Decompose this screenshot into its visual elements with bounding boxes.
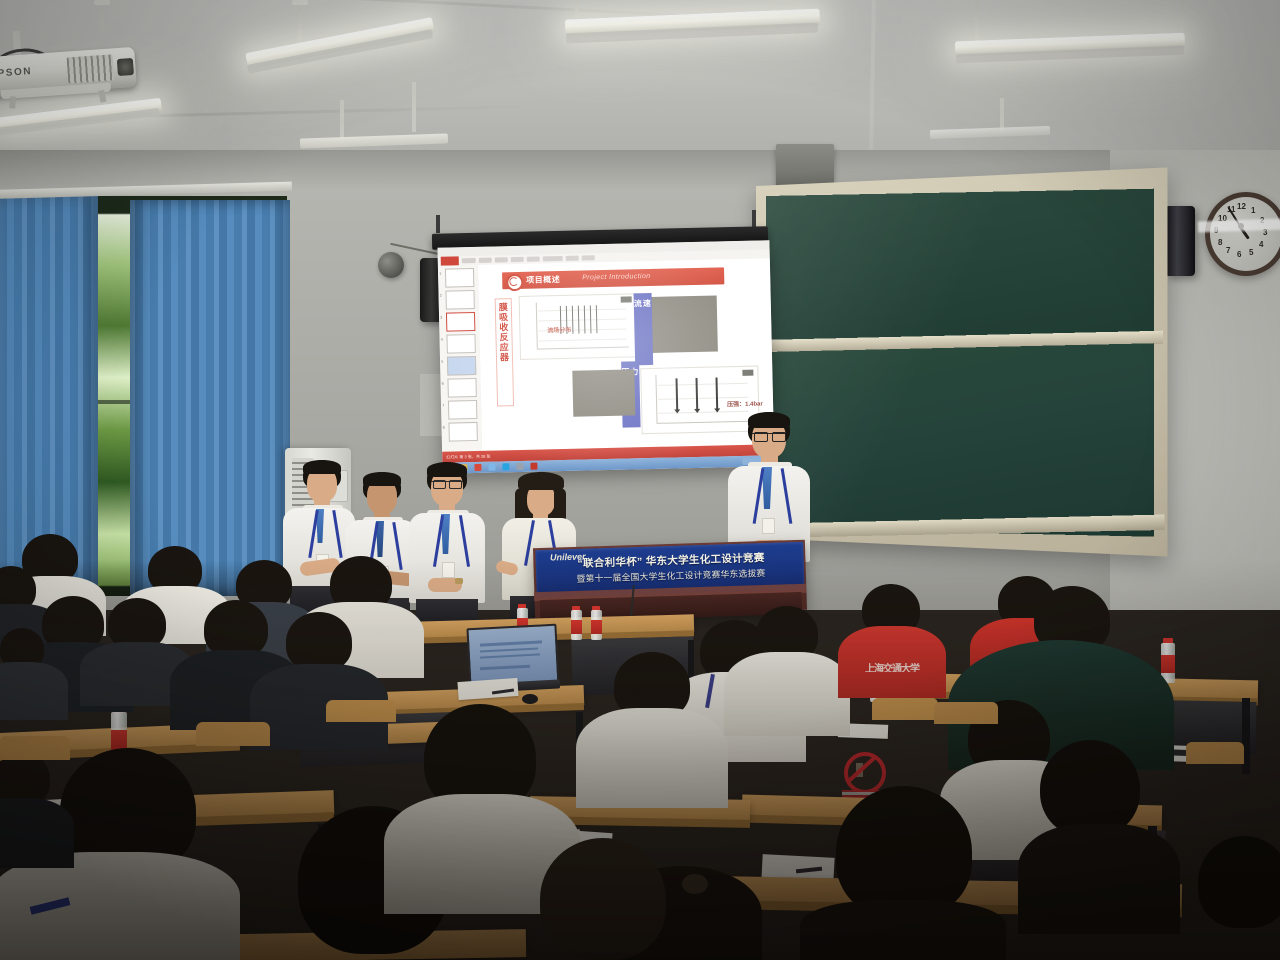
chair-back xyxy=(872,698,938,720)
clock-numeral: 1 xyxy=(1251,206,1255,215)
thumbnail-number: 4 xyxy=(440,337,442,342)
wall-sensor-icon xyxy=(378,252,404,278)
skype-icon[interactable] xyxy=(502,463,509,470)
chair-back xyxy=(934,702,998,724)
ppt-tab-file[interactable] xyxy=(441,256,459,265)
hair-clip xyxy=(682,874,708,894)
slide-chart-caption-2: 压强：1.4bar xyxy=(727,398,763,408)
thumbnail-number: 6 xyxy=(441,381,443,386)
thumbnail-number: 2 xyxy=(439,293,441,298)
light-rod xyxy=(412,82,416,132)
window-mullion xyxy=(96,400,132,404)
curtain-right[interactable] xyxy=(130,200,290,596)
blackboard-sheen xyxy=(766,179,1154,553)
thumbnail-number: 5 xyxy=(441,359,443,364)
ppt-tab-insert[interactable] xyxy=(479,258,492,263)
ppt-tab-design[interactable] xyxy=(495,257,508,262)
thumbnail-number: 7 xyxy=(442,403,444,408)
slide-thumbnail[interactable] xyxy=(445,268,474,288)
slide-thumbnail[interactable] xyxy=(448,400,477,420)
slide-image-block-1 xyxy=(651,295,718,352)
projector-foot xyxy=(9,96,16,108)
thumbnail-number: 8 xyxy=(442,425,444,430)
slide-thumbnail[interactable] xyxy=(445,290,474,310)
slide-vertical-label-reactor: 膜吸收反应器 xyxy=(495,298,514,406)
ceiling-projector: EPSON xyxy=(0,47,138,109)
chart-legend-tag xyxy=(621,296,632,302)
chair-back xyxy=(196,722,270,746)
projection-screen: 1 2 3 4 5 6 7 8 项目概述 Project Introductio… xyxy=(437,240,774,473)
wall-speaker-right xyxy=(1165,206,1195,276)
slide-chart-flowfield xyxy=(519,293,638,360)
chair-back xyxy=(0,736,70,760)
ppt-status-text: 幻灯片 第 3 张，共 28 张 xyxy=(446,454,490,461)
slide-thumbnail[interactable] xyxy=(448,422,477,442)
light-rod-cap xyxy=(94,0,110,5)
clock-numeral: 4 xyxy=(1259,240,1263,249)
projector-lens-icon xyxy=(117,58,134,76)
chair-back xyxy=(326,700,396,722)
slide-thumbnail[interactable] xyxy=(447,356,476,376)
slide-thumbnail[interactable] xyxy=(447,378,476,398)
slide-thumbnail[interactable] xyxy=(446,334,475,354)
computer-mouse[interactable] xyxy=(522,694,538,704)
clock-numeral: 12 xyxy=(1237,202,1246,211)
clock-numeral: 8 xyxy=(1218,238,1222,247)
media-icon[interactable] xyxy=(516,463,523,470)
ppt-tab-slideshow[interactable] xyxy=(543,256,563,261)
light-rod xyxy=(340,100,344,138)
ppt-tab-review[interactable] xyxy=(566,256,579,261)
mail-icon[interactable] xyxy=(488,464,495,471)
prohibition-circle-icon xyxy=(844,752,886,794)
wristwatch-icon xyxy=(455,578,463,584)
pdf-icon[interactable] xyxy=(530,463,537,470)
ie-icon[interactable] xyxy=(474,464,481,471)
slide-label-flowrate: 流速 xyxy=(634,293,654,365)
chair-back xyxy=(1186,742,1244,764)
ppt-tab-home[interactable] xyxy=(462,258,476,263)
projector-vent xyxy=(67,54,115,83)
slide-title-cn: 项目概述 xyxy=(526,274,560,286)
light-rod xyxy=(298,0,302,46)
clock-numeral: 7 xyxy=(1226,246,1230,255)
thumbnail-number: 1 xyxy=(439,271,441,276)
team-shirt-text: 上海交通大学 xyxy=(856,660,928,672)
light-rod-cap xyxy=(292,0,308,5)
clock-numeral: 6 xyxy=(1237,250,1241,259)
slide-thumbnail-selected[interactable] xyxy=(446,312,475,332)
slide-image-block-2 xyxy=(572,369,635,416)
ppt-tab-transitions[interactable] xyxy=(511,257,524,262)
slide-chart-caption-1: 流场分布 xyxy=(547,325,571,335)
ppt-tab-animations[interactable] xyxy=(527,256,540,261)
clock-numeral: 5 xyxy=(1249,248,1253,257)
screen-bracket xyxy=(436,215,440,233)
ppt-tab-view[interactable] xyxy=(582,255,595,260)
ppt-slide-stage: 项目概述 Project Introduction 膜吸收反应器 流场分布 xyxy=(478,258,774,451)
light-rod xyxy=(975,0,979,42)
ppt-thumbnail-pane[interactable]: 1 2 3 4 5 6 7 8 xyxy=(438,265,483,452)
chart-legend-tag xyxy=(742,370,753,376)
thumbnail-number: 3 xyxy=(440,315,442,320)
av-control-box xyxy=(776,144,834,188)
classroom-scene: EPSON 12 1 2 3 4 5 6 7 8 9 10 xyxy=(0,0,1280,960)
